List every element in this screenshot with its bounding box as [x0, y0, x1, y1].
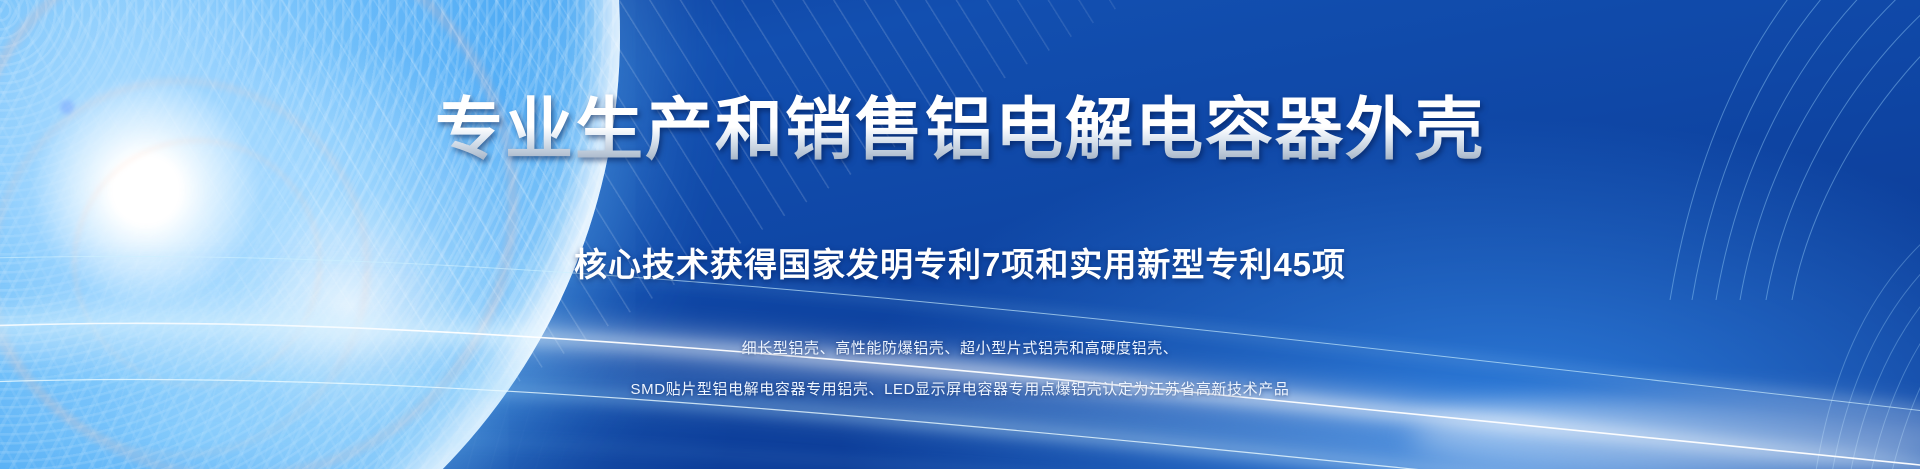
banner-description-line-1: 细长型铝壳、高性能防爆铝壳、超小型片式铝壳和高硬度铝壳、 — [742, 337, 1179, 361]
banner-content: 专业生产和销售铝电解电容器外壳 核心技术获得国家发明专利7项和实用新型专利45项… — [0, 0, 1920, 469]
hero-banner: 专业生产和销售铝电解电容器外壳 核心技术获得国家发明专利7项和实用新型专利45项… — [0, 0, 1920, 469]
banner-subheadline: 核心技术获得国家发明专利7项和实用新型专利45项 — [574, 238, 1346, 286]
banner-headline: 专业生产和销售铝电解电容器外壳 — [435, 94, 1485, 166]
banner-description-line-2: SMD贴片型铝电解电容器专用铝壳、LED显示屏电容器专用点爆铝壳认定为江苏省高新… — [631, 378, 1290, 402]
